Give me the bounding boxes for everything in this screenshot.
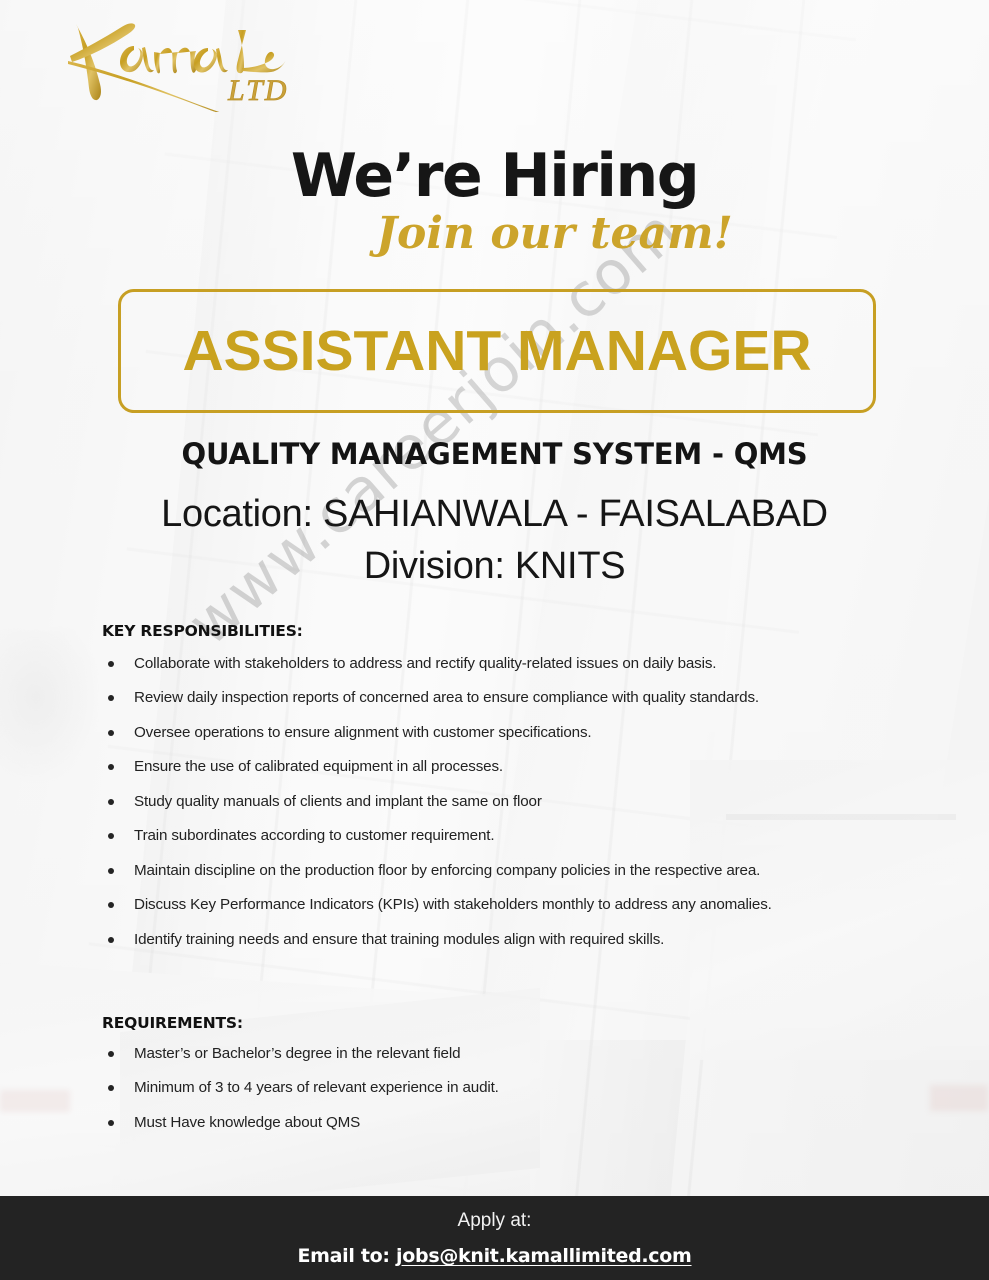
email-prefix: Email to:	[297, 1245, 396, 1267]
job-poster: www.careerjoin.com	[0, 0, 989, 1280]
join-tagline: Join our team!	[0, 212, 989, 256]
requirements-heading: REQUIREMENTS:	[102, 1014, 243, 1032]
list-item: Identify training needs and ensure that …	[102, 931, 892, 948]
responsibilities-heading: KEY RESPONSIBILITIES:	[102, 622, 303, 640]
footer-bar: Apply at: Email to: jobs@knit.kamallimit…	[0, 1196, 989, 1280]
kamal-script-logo-icon	[42, 12, 342, 112]
list-item: Review daily inspection reports of conce…	[102, 689, 892, 706]
list-item: Train subordinates according to customer…	[102, 827, 892, 844]
job-title: ASSISTANT MANAGER	[182, 323, 811, 380]
list-item: Oversee operations to ensure alignment w…	[102, 724, 892, 741]
email-line: Email to: jobs@knit.kamallimited.com	[0, 1245, 989, 1267]
hiring-headline: We’re Hiring	[0, 146, 989, 206]
list-item: Maintain discipline on the production fl…	[102, 862, 892, 879]
list-item: Discuss Key Performance Indicators (KPIs…	[102, 896, 892, 913]
job-division: Division: KNITS	[0, 545, 989, 588]
requirements-list: Master’s or Bachelor’s degree in the rel…	[102, 1045, 892, 1148]
job-title-box: ASSISTANT MANAGER	[118, 289, 876, 413]
list-item: Ensure the use of calibrated equipment i…	[102, 758, 892, 775]
job-location: Location: SAHIANWALA - FAISALABAD	[0, 493, 989, 536]
logo-ltd-text: LTD	[228, 74, 288, 108]
apply-label: Apply at:	[0, 1210, 989, 1232]
email-address[interactable]: jobs@knit.kamallimited.com	[396, 1245, 691, 1267]
poster-content: LTD We’re Hiring Join our team! ASSISTAN…	[0, 0, 989, 1280]
list-item: Collaborate with stakeholders to address…	[102, 655, 892, 672]
company-logo: LTD	[42, 12, 342, 112]
list-item: Master’s or Bachelor’s degree in the rel…	[102, 1045, 892, 1062]
responsibilities-list: Collaborate with stakeholders to address…	[102, 655, 892, 965]
list-item: Study quality manuals of clients and imp…	[102, 793, 892, 810]
job-department: QUALITY MANAGEMENT SYSTEM - QMS	[0, 437, 989, 471]
list-item: Must Have knowledge about QMS	[102, 1114, 892, 1131]
list-item: Minimum of 3 to 4 years of relevant expe…	[102, 1079, 892, 1096]
